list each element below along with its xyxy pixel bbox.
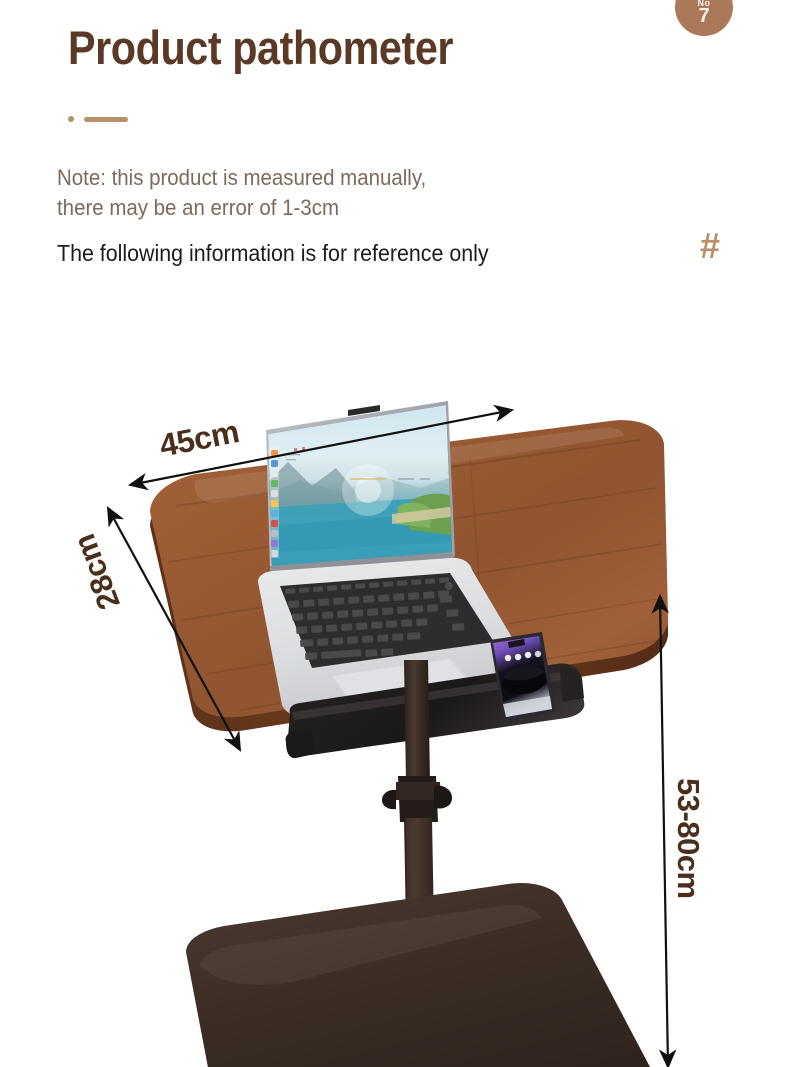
product-spec-page: No 7 Product pathometer Note: this produ… — [0, 0, 800, 1067]
page-title: Product pathometer — [68, 20, 453, 75]
dimension-label-height: 53-80cm — [670, 778, 706, 899]
measurement-note: Note: this product is measured manually,… — [57, 163, 426, 224]
title-divider — [68, 115, 138, 123]
divider-bar-icon — [84, 117, 128, 122]
product-illustration — [0, 330, 800, 1067]
page-number-badge: No 7 — [675, 0, 733, 36]
hash-icon: # — [700, 228, 720, 264]
badge-number: 7 — [675, 6, 733, 26]
reference-note: The following information is for referen… — [57, 240, 489, 267]
divider-dot-icon — [68, 116, 74, 122]
